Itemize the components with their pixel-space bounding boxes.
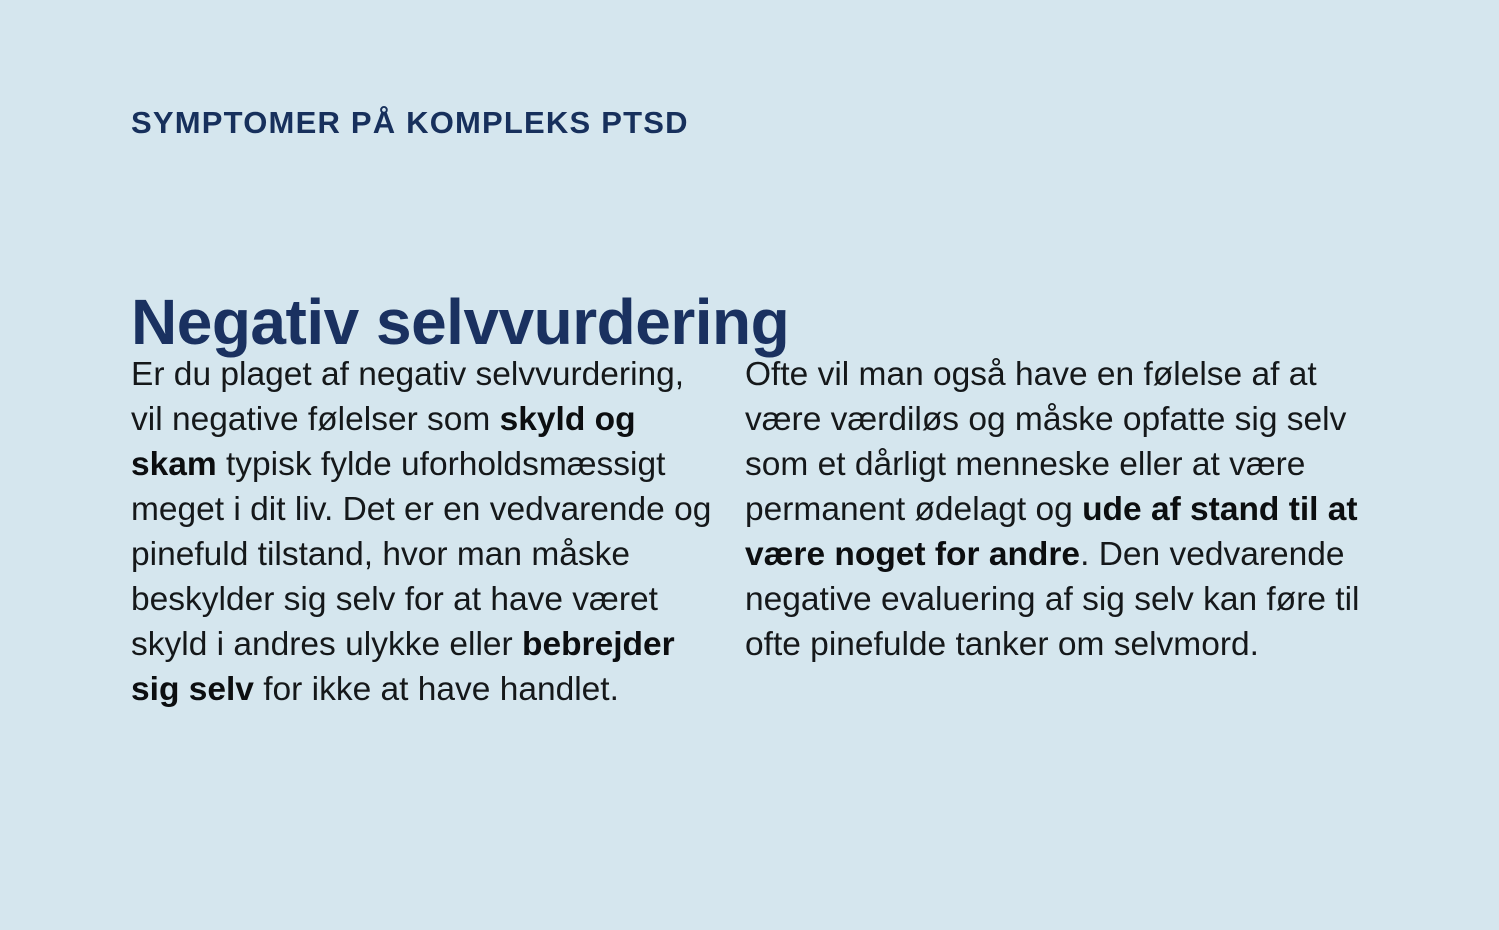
page-title: Negativ selvvurdering <box>131 286 789 360</box>
body-columns: Er du plaget af negativ selvvurdering, v… <box>131 352 1371 712</box>
section-eyebrow-label: SYMPTOMER PÅ KOMPLEKS PTSD <box>131 104 689 141</box>
body-paragraph-right: Ofte vil man også have en følelse af at … <box>741 352 1371 712</box>
slide-root: SYMPTOMER PÅ KOMPLEKS PTSD Negativ selvv… <box>0 0 1499 930</box>
body-paragraph-left: Er du plaget af negativ selvvurdering, v… <box>131 352 741 712</box>
body-text: for ikke at have handlet. <box>254 671 619 708</box>
